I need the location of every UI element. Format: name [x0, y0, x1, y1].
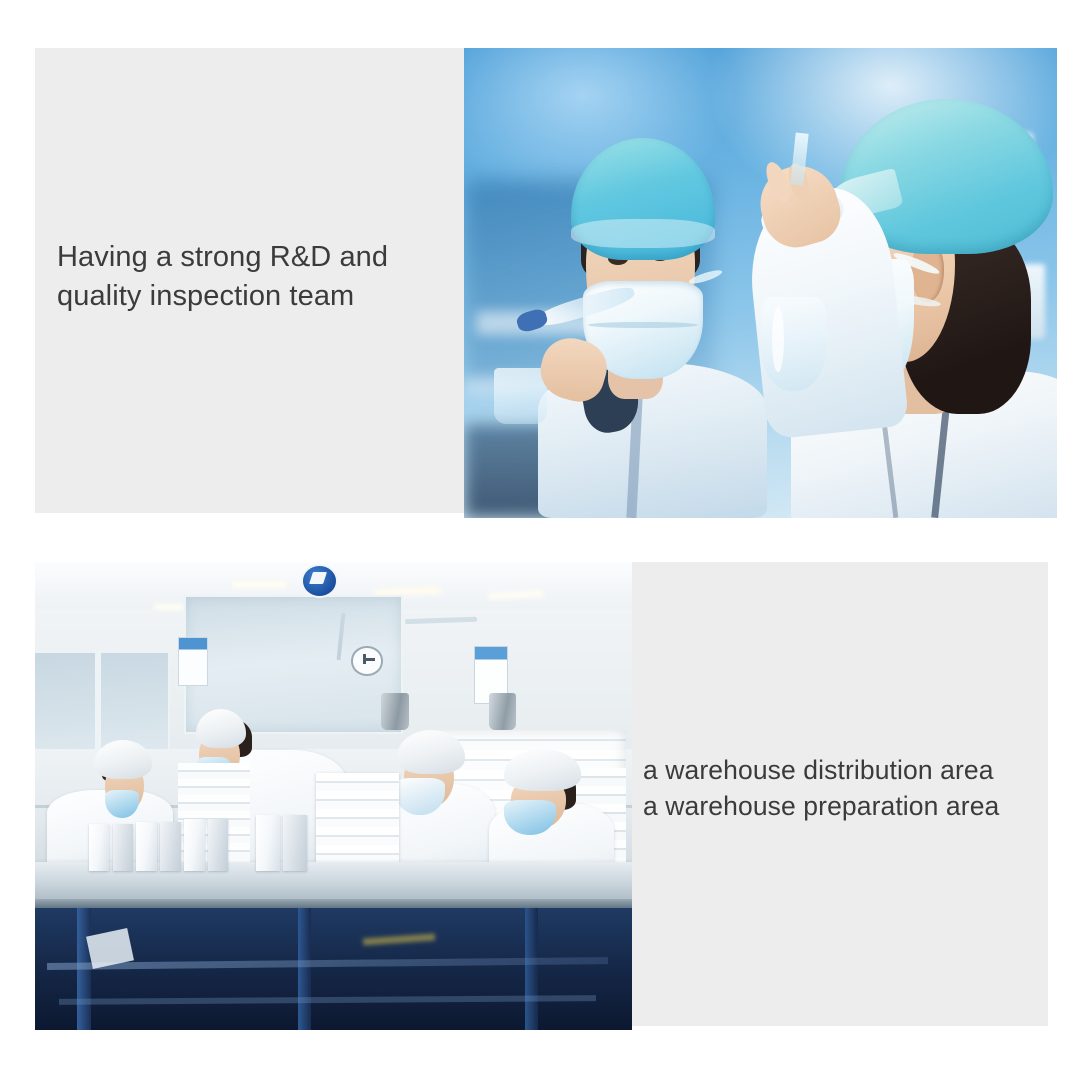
caption-rd-quality: Having a strong R&D and quality inspecti… — [57, 238, 457, 316]
warehouse-packing-photo — [35, 562, 632, 1030]
window-mullion — [95, 651, 101, 754]
wall-notice-left — [178, 637, 207, 686]
worker-right-a-hairnet — [397, 730, 465, 774]
carton-upright-8 — [283, 815, 307, 871]
worker-right-b-hairnet — [504, 749, 582, 790]
ceiling-light-1 — [232, 581, 286, 588]
lab-quality-inspection-photo — [464, 48, 1057, 518]
clock-minute-hand — [364, 658, 375, 660]
carton-upright-5 — [184, 819, 204, 870]
worker-center-hairnet — [196, 709, 246, 748]
table-leg-3 — [525, 908, 538, 1030]
section-warehouse: a warehouse distribution area a warehous… — [35, 562, 1048, 1030]
section-rd-quality: Having a strong R&D and quality inspecti… — [35, 48, 1057, 518]
lab-beaker — [494, 368, 547, 424]
caption-warehouse: a warehouse distribution area a warehous… — [643, 752, 1063, 824]
carton-upright-3 — [136, 822, 156, 871]
carton-upright-6 — [208, 819, 228, 870]
worker-left-hairnet — [94, 740, 152, 779]
carton-upright-2 — [113, 824, 133, 871]
steel-vessel-right — [489, 693, 516, 730]
carton-upright-7 — [256, 815, 280, 871]
carton-stack-center — [316, 773, 400, 876]
ceiling-light-4 — [154, 604, 184, 610]
carton-upright-4 — [160, 822, 180, 871]
table-leg-2 — [298, 908, 311, 1030]
warehouse-photo-content — [35, 562, 632, 1030]
page-root: Having a strong R&D and quality inspecti… — [0, 0, 1080, 1080]
lab-glass-vessel — [761, 297, 826, 391]
wall-clock-icon — [351, 646, 382, 675]
steel-vessel-left — [381, 693, 408, 730]
carton-upright-1 — [89, 824, 109, 871]
lab-hairnet-band-front — [571, 219, 715, 248]
lab-photo-content — [464, 48, 1057, 518]
